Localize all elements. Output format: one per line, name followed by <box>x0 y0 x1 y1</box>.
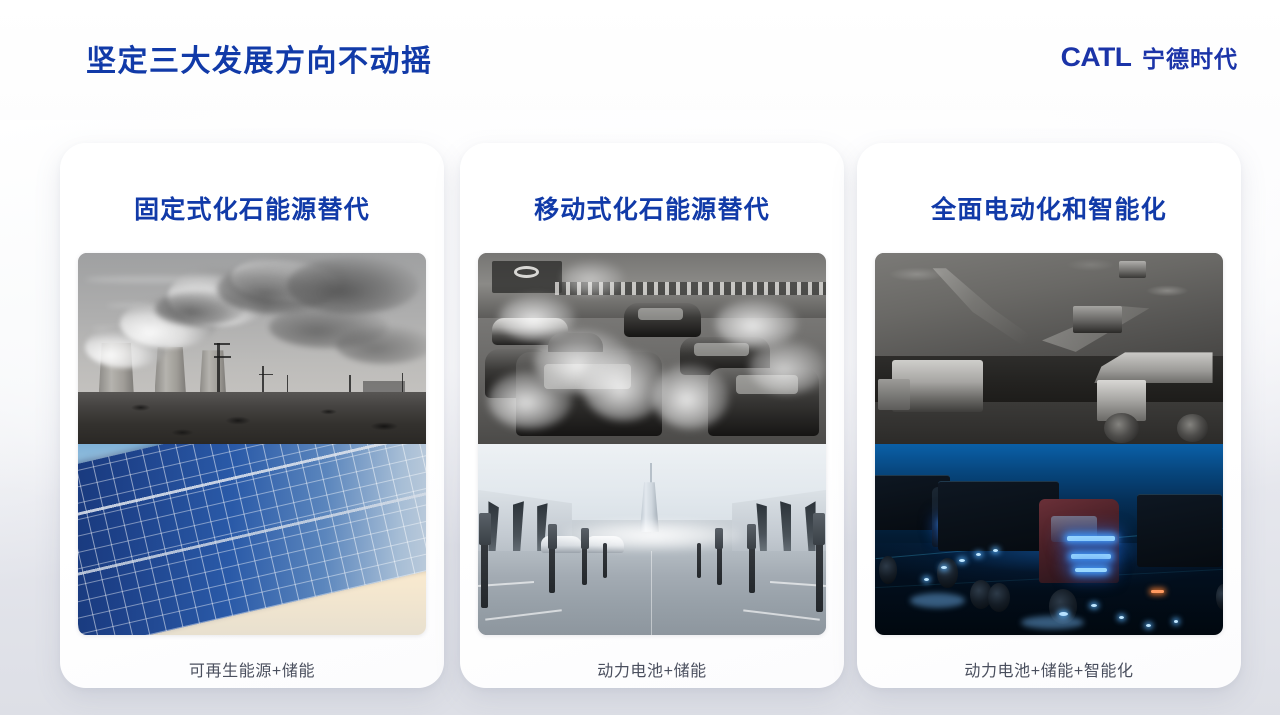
card-media-stack <box>875 253 1223 635</box>
card-caption: 可再生能源+储能 <box>189 657 315 681</box>
card-title: 固定式化石能源替代 <box>134 190 370 226</box>
brand-latin-text: CATL <box>1061 42 1132 73</box>
card-mobile-fossil-replacement[interactable]: 移动式化石能源替代 <box>460 143 844 688</box>
page-title: 坚定三大发展方向不动摇 <box>86 36 433 80</box>
coal-power-plant-image <box>78 253 426 444</box>
brand-chinese-text: 宁德时代 <box>1142 40 1238 74</box>
card-caption: 动力电池+储能+智能化 <box>964 657 1133 681</box>
card-media-stack <box>78 253 426 635</box>
solar-panel-image <box>78 444 426 635</box>
card-title: 全面电动化和智能化 <box>931 190 1167 226</box>
card-title: 移动式化石能源替代 <box>534 190 770 226</box>
mining-site-image <box>875 253 1223 444</box>
catl-logo: CATL 宁德时代 <box>1062 40 1238 74</box>
slide-header: 坚定三大发展方向不动摇 CATL 宁德时代 <box>0 0 1280 110</box>
traffic-exhaust-image <box>478 253 826 444</box>
card-fixed-fossil-replacement[interactable]: 固定式化石能源替代 <box>60 143 444 688</box>
ev-charging-station-image <box>478 444 826 635</box>
card-caption: 动力电池+储能 <box>597 657 707 681</box>
electric-trucks-image <box>875 444 1223 635</box>
mining-dump-truck <box>1094 352 1212 438</box>
card-full-electrification-intelligence[interactable]: 全面电动化和智能化 <box>857 143 1241 688</box>
card-media-stack <box>478 253 826 635</box>
